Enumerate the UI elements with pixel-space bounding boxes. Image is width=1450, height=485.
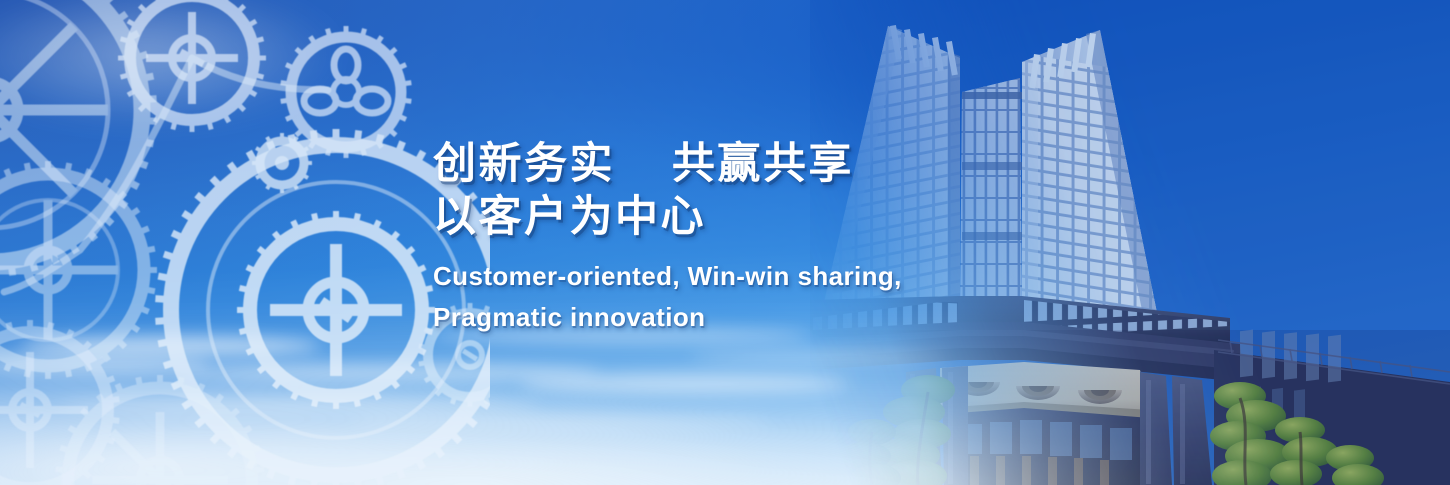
banner-text-block: 创新务实 共赢共享 以客户为中心 Customer-oriented, Win-… <box>433 138 953 338</box>
headline-line-1: 创新务实 共赢共享 <box>433 138 953 191</box>
subtitle-block: Customer-oriented, Win-win sharing, Prag… <box>433 256 953 338</box>
headline-1-right: 共赢共享 <box>672 140 854 188</box>
headline-1-left: 创新务实 <box>433 140 615 188</box>
corporate-banner: 创新务实 共赢共享 以客户为中心 Customer-oriented, Win-… <box>0 0 1450 485</box>
subtitle-line-1: Customer-oriented, Win-win sharing, <box>433 256 953 297</box>
subtitle-line-2: Pragmatic innovation <box>433 297 953 338</box>
headline-2-left: 以客户为中心 <box>433 193 706 241</box>
headline-line-2: 以客户为中心 <box>433 191 953 244</box>
